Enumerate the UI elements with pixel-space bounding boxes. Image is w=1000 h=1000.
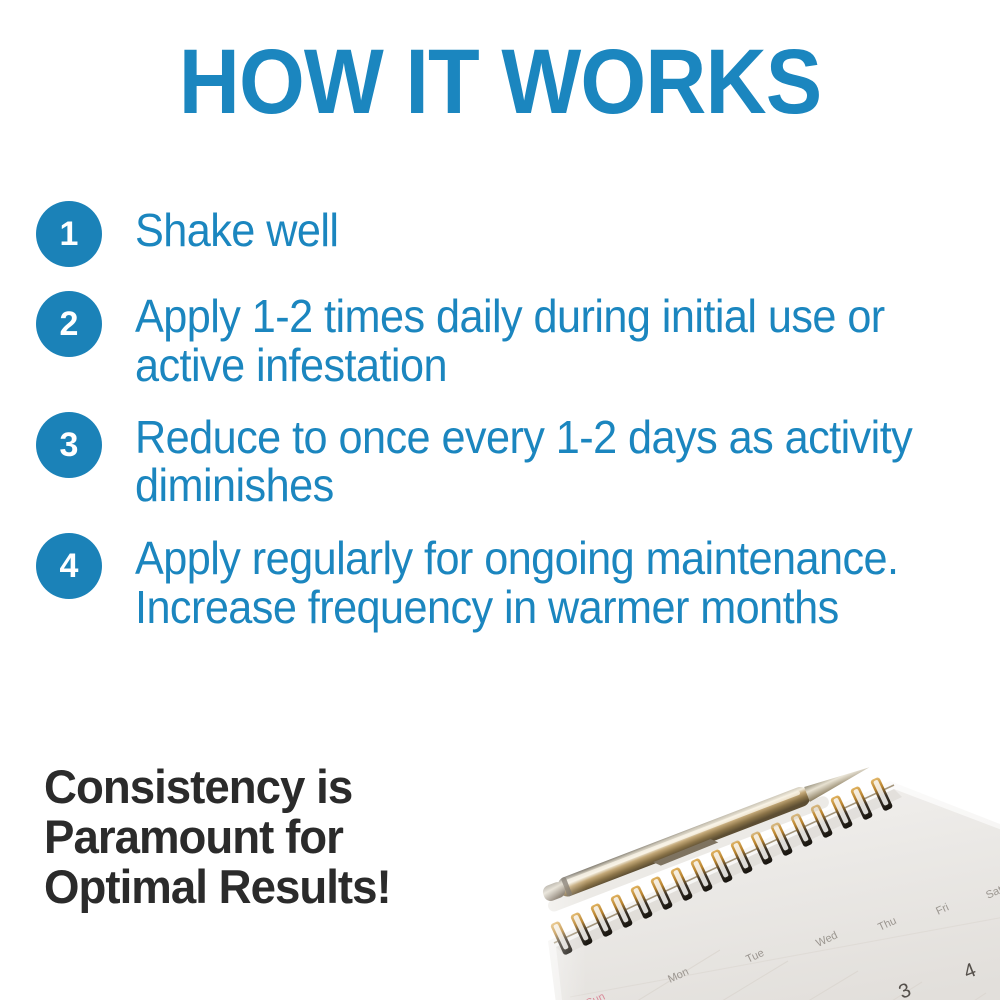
list-item: 1 Shake well (36, 201, 966, 267)
list-item: 4 Apply regularly for ongoing maintenanc… (36, 533, 966, 632)
step-number-badge-3: 3 (36, 412, 102, 478)
step-number-badge-2: 2 (36, 291, 102, 357)
step-text-2: Apply 1-2 times daily during initial use… (135, 291, 916, 390)
tagline-line-2: Paramount for (44, 812, 391, 862)
calendar-photo-illustration: Sun Mon Tue Wed Thu Fri Sat 1 2 3 4 (470, 735, 1000, 1000)
step-text-1: Shake well (135, 201, 916, 255)
step-text-4: Apply regularly for ongoing maintenance.… (135, 533, 916, 632)
tagline-line-3: Optimal Results! (44, 862, 391, 912)
how-it-works-infographic: HOW IT WORKS 1 Shake well 2 Apply 1-2 ti… (0, 0, 1000, 1000)
page-title: HOW IT WORKS (40, 36, 960, 128)
step-text-3: Reduce to once every 1-2 days as activit… (135, 412, 916, 511)
list-item: 2 Apply 1-2 times daily during initial u… (36, 291, 966, 390)
step-number-badge-4: 4 (36, 533, 102, 599)
photo-content: Sun Mon Tue Wed Thu Fri Sat 1 2 3 4 (470, 735, 1000, 1000)
list-item: 3 Reduce to once every 1-2 days as activ… (36, 412, 966, 511)
steps-list: 1 Shake well 2 Apply 1-2 times daily dur… (36, 196, 966, 654)
step-number-badge-1: 1 (36, 201, 102, 267)
calendar-pen-photo: Sun Mon Tue Wed Thu Fri Sat 1 2 3 4 (470, 735, 1000, 1000)
tagline-line-1: Consistency is (44, 762, 391, 812)
tagline: Consistency is Paramount for Optimal Res… (44, 762, 391, 911)
